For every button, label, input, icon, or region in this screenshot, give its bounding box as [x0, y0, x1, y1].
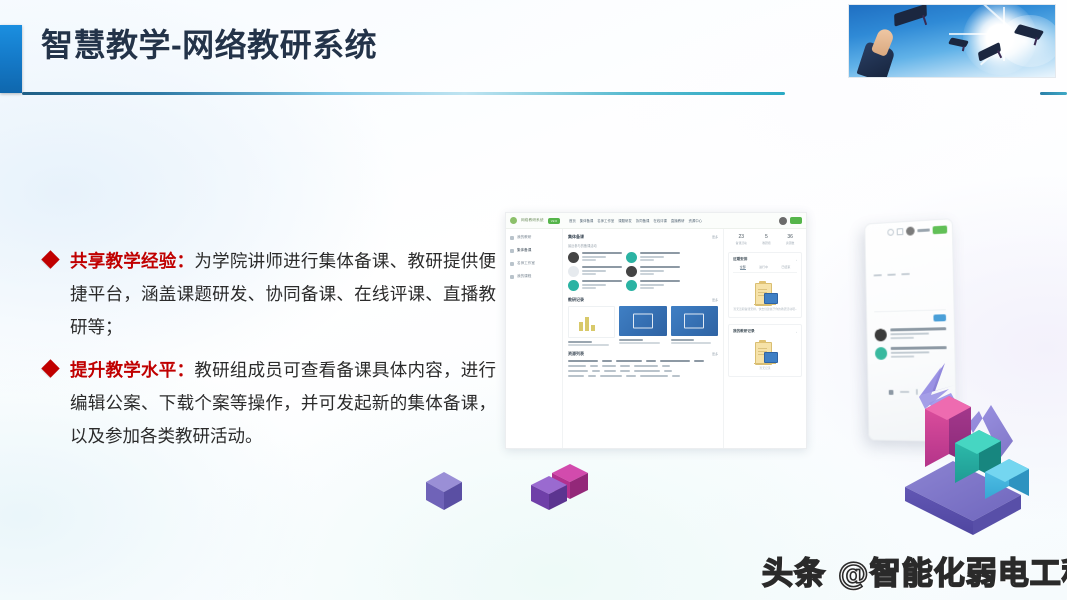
sidebar-item-label: 集体备课	[517, 248, 531, 253]
section-header-people: 集体备课 更多	[568, 234, 718, 240]
card-label	[671, 339, 695, 341]
panel-upcoming: 近期安排› 全部 进行中 已结束 暂无近期备课安排，快去创建属于你的教研活动吧~	[728, 252, 802, 318]
avatar	[875, 347, 887, 360]
stat-value: 23	[736, 234, 747, 240]
list-item[interactable]	[626, 280, 680, 291]
title-divider-rule	[22, 92, 785, 95]
section-header-cards: 教研记录 更多	[568, 297, 718, 303]
avatar	[875, 329, 887, 342]
dot-icon	[510, 275, 514, 279]
menu-icon[interactable]	[897, 228, 904, 235]
list-item[interactable]	[568, 280, 622, 291]
platform-dashboard-screenshot: 网络教研系统 V2.0 首页 集体备课 名师工作室 课题研发 协同备课 在线评课…	[505, 212, 807, 449]
nav-item[interactable]: 在线评课	[653, 218, 667, 223]
stat-label: 资源数	[786, 241, 794, 245]
avatar	[626, 266, 637, 277]
sidebar-item-label: 名师工作室	[517, 261, 535, 266]
bullet-text-1: 共享教学经验：为学院讲师进行集体备课、教研提供便捷平台，涵盖课题研发、协同备课、…	[70, 246, 496, 345]
chat-panel-tabs[interactable]	[866, 233, 953, 277]
dot-icon	[510, 249, 514, 253]
card-desc	[568, 344, 609, 346]
table-row[interactable]	[568, 370, 718, 372]
stats-row: 23备课活动 5教研组 36资源数	[728, 234, 802, 245]
image-placeholder-icon	[633, 314, 653, 329]
diamond-bullet-icon	[41, 250, 59, 268]
diamond-bullet-icon	[41, 359, 59, 377]
raised-arm	[861, 23, 901, 78]
empty-state-text: 暂无近期备课安排，快去创建属于你的教研活动吧~	[733, 307, 796, 311]
nav-item[interactable]: 协同备课	[636, 218, 650, 223]
sun-ray	[949, 33, 1005, 35]
dashboard-main: 集体备课 更多 最近参与的备课活动 教研记录 更多	[563, 229, 723, 449]
stat-value: 36	[786, 234, 794, 240]
list-item[interactable]	[867, 321, 954, 342]
nav-item[interactable]: 名师工作室	[597, 218, 614, 223]
tab-hot[interactable]	[887, 274, 895, 277]
title-accent-bar	[0, 25, 22, 93]
panel-title: 近期安排	[733, 257, 747, 262]
page-title: 智慧教学-网络教研系统	[41, 24, 377, 67]
login-button[interactable]	[790, 217, 802, 224]
avatar	[626, 252, 637, 263]
brand-name: 网络教研系统	[521, 218, 544, 223]
graduation-hero-photo	[848, 4, 1056, 78]
card-item[interactable]	[671, 306, 718, 346]
card-thumbnail-chart	[568, 306, 615, 338]
sidebar-item-label: 我的课程	[517, 274, 531, 279]
people-grid	[568, 252, 718, 291]
dot-icon	[510, 262, 514, 266]
cube-single-svg	[424, 470, 464, 512]
stat-item: 36资源数	[786, 234, 794, 245]
image-placeholder-icon	[684, 314, 704, 329]
section-title: 教研记录	[568, 297, 584, 303]
cube-pair	[530, 462, 592, 512]
clipboard-monitor-icon	[755, 281, 775, 305]
grid-icon[interactable]	[889, 390, 894, 395]
mini-bar-chart-icon	[579, 317, 595, 331]
bullet-lead-1: 共享教学经验：	[70, 252, 194, 272]
dashboard-right-panel: 23备课活动 5教研组 36资源数 近期安排› 全部 进行中 已结束	[723, 229, 806, 449]
sidebar-item-3[interactable]: 我的课程	[510, 274, 558, 279]
avatar	[626, 280, 637, 291]
clipboard-monitor-icon	[755, 340, 775, 364]
resource-table	[568, 360, 718, 377]
tab-finished[interactable]: 已结束	[781, 265, 790, 270]
chart-3d-illustration	[895, 345, 1055, 535]
dashboard-body: 我的教研 集体备课 名师工作室 我的课程 集体备课 更多 最近参与的备课活动	[506, 229, 806, 449]
stat-value: 5	[762, 234, 770, 240]
tab-all[interactable]	[874, 274, 882, 277]
slide-canvas: 智慧教学-网络教研系统 共享教学经验：为学院讲师进行集体备课、教研提供便捷平台，…	[0, 0, 1067, 600]
panel-my-records: 我的教研记录› 暂无记录	[728, 324, 802, 377]
section-header-table: 资源列表 更多	[568, 351, 718, 357]
stat-item: 23备课活动	[736, 234, 747, 245]
card-thumbnail-image	[671, 306, 718, 336]
more-dots-icon[interactable]: ›	[796, 258, 797, 262]
publish-button[interactable]	[933, 225, 948, 234]
card-label	[568, 341, 592, 343]
watermark-text: 头条 @智能化弱电工程	[762, 548, 1067, 593]
nav-item[interactable]: 资源中心	[688, 218, 702, 223]
section-more-link[interactable]: 更多	[712, 235, 718, 239]
nav-item[interactable]: 首页	[569, 218, 576, 223]
version-badge: V2.0	[548, 218, 560, 224]
empty-state-text: 暂无记录	[759, 366, 770, 370]
nav-item[interactable]: 直播教研	[671, 218, 685, 223]
bullet-lead-2: 提升教学水平：	[70, 361, 194, 381]
nav-right-group	[779, 217, 802, 225]
sidebar-item-2[interactable]: 名师工作室	[510, 261, 558, 266]
nav-item[interactable]: 集体备课	[580, 218, 594, 223]
section-title: 资源列表	[568, 351, 584, 357]
chart-3d-svg	[895, 345, 1055, 535]
sidebar-item-0[interactable]: 我的教研	[510, 235, 558, 240]
section-subtitle: 最近参与的备课活动	[568, 243, 718, 248]
card-desc	[619, 342, 660, 344]
bullet-text-2: 提升教学水平：教研组成员可查看备课具体内容，进行编辑公案、下载个案等操作，并可发…	[70, 355, 496, 454]
divider	[874, 310, 946, 313]
chevron-icon	[510, 236, 514, 240]
bullet-item-1: 共享教学经验：为学院讲师进行集体备课、教研提供便捷平台，涵盖课题研发、协同备课、…	[44, 246, 496, 345]
cube-pair-svg	[530, 462, 592, 512]
card-grid	[568, 306, 718, 346]
sidebar-item-1[interactable]: 集体备课	[510, 248, 558, 253]
dashboard-sidebar: 我的教研 集体备课 名师工作室 我的课程	[506, 229, 563, 449]
tab-follow[interactable]	[901, 273, 909, 276]
user-name	[917, 229, 929, 232]
section-more-link[interactable]: 更多	[712, 298, 718, 302]
section-more-link[interactable]: 更多	[712, 352, 718, 356]
section-title: 集体备课	[568, 234, 584, 240]
search-icon[interactable]	[887, 229, 894, 236]
more-dots-icon[interactable]: ›	[796, 330, 797, 334]
panel-title: 我的教研记录	[733, 329, 755, 334]
list-item[interactable]	[568, 252, 622, 263]
table-row[interactable]	[568, 365, 718, 367]
tab-all[interactable]: 全部	[740, 265, 746, 270]
cube-single	[424, 470, 464, 512]
card-desc	[671, 342, 712, 344]
panel-tabs: 全部 进行中 已结束	[733, 265, 797, 273]
table-row[interactable]	[568, 375, 718, 377]
sidebar-item-label: 我的教研	[517, 235, 531, 240]
bullet-list: 共享教学经验：为学院讲师进行集体备课、教研提供便捷平台，涵盖课题研发、协同备课、…	[44, 246, 496, 464]
list-item[interactable]	[626, 252, 680, 263]
title-divider-rule-right	[1040, 92, 1067, 95]
list-item[interactable]	[626, 266, 680, 277]
card-item[interactable]	[568, 306, 615, 346]
avatar	[568, 280, 579, 291]
avatar[interactable]	[779, 217, 787, 225]
bullet-item-2: 提升教学水平：教研组成员可查看备课具体内容，进行编辑公案、下载个案等操作，并可发…	[44, 355, 496, 454]
avatar	[568, 252, 579, 263]
stat-label: 教研组	[762, 241, 770, 245]
avatar	[568, 266, 579, 277]
empty-state-1: 暂无近期备课安排，快去创建属于你的教研活动吧~	[733, 278, 797, 313]
brand-logo-icon	[510, 217, 517, 224]
stat-label: 备课活动	[736, 241, 747, 245]
nav-item[interactable]: 课题研发	[618, 218, 632, 223]
table-header-row	[568, 360, 718, 362]
graduation-cap-icon	[948, 37, 968, 52]
dashboard-top-nav: 网络教研系统 V2.0 首页 集体备课 名师工作室 课题研发 协同备课 在线评课…	[506, 213, 806, 229]
card-item[interactable]	[619, 306, 666, 346]
empty-state-2: 暂无记录	[733, 337, 797, 372]
card-label	[619, 339, 643, 341]
card-thumbnail-image	[619, 306, 666, 336]
stat-item: 5教研组	[762, 234, 770, 245]
list-item[interactable]	[568, 266, 622, 277]
nav-menu[interactable]: 首页 集体备课 名师工作室 课题研发 协同备课 在线评课 直播教研 资源中心	[569, 218, 702, 223]
tab-ongoing[interactable]: 进行中	[759, 265, 768, 270]
